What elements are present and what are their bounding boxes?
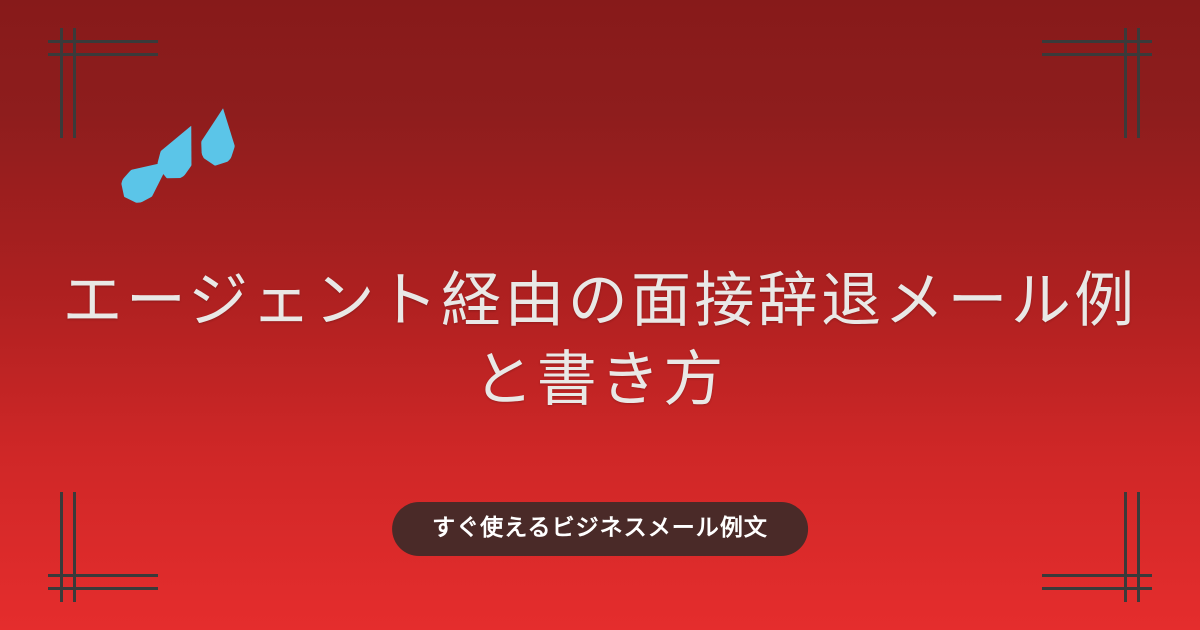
corner-line-vertical-outer (73, 28, 76, 138)
corner-ornament-bottom-right (1042, 492, 1152, 602)
corner-line-horizontal-outer (48, 574, 158, 577)
corner-line-vertical-outer (1124, 492, 1127, 602)
corner-line-horizontal-outer (1042, 574, 1152, 577)
og-card: エージェント経由の面接辞退メール例 と書き方 すぐ使えるビジネスメール例文 (0, 0, 1200, 630)
corner-line-vertical-outer (1124, 28, 1127, 138)
corner-line-horizontal-inner (48, 587, 158, 590)
corner-line-vertical-inner (1137, 492, 1140, 602)
corner-ornament-bottom-left (48, 492, 158, 602)
corner-line-horizontal-inner (48, 40, 158, 43)
sparkle-cluster (128, 108, 268, 208)
corner-line-horizontal-outer (48, 53, 158, 56)
corner-line-vertical-inner (60, 492, 63, 602)
corner-line-vertical-inner (60, 28, 63, 138)
page-title: エージェント経由の面接辞退メール例 と書き方 (0, 262, 1200, 420)
corner-line-vertical-inner (1137, 28, 1140, 138)
corner-line-horizontal-inner (1042, 40, 1152, 43)
corner-ornament-top-right (1042, 28, 1152, 138)
corner-line-horizontal-inner (1042, 587, 1152, 590)
sparkle-drop-icon (198, 106, 240, 168)
category-badge: すぐ使えるビジネスメール例文 (392, 502, 808, 556)
corner-line-vertical-outer (73, 492, 76, 602)
corner-line-horizontal-outer (1042, 53, 1152, 56)
